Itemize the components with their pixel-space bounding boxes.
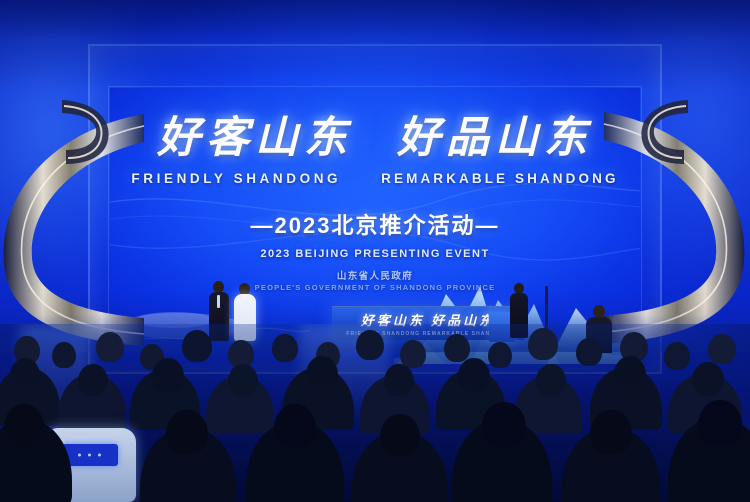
audience-head-front bbox=[482, 402, 526, 448]
audience-head bbox=[384, 364, 414, 396]
audience-head bbox=[488, 342, 512, 368]
audience-head bbox=[52, 342, 76, 368]
slogan-en-right: REMARKABLE SHANDONG bbox=[381, 171, 618, 186]
slogan-cn-left: 好客山东 bbox=[157, 116, 353, 161]
audience-head-front bbox=[698, 400, 742, 446]
audience-head bbox=[10, 358, 40, 390]
audience-head bbox=[528, 328, 558, 360]
slogan-chinese-row: 好客山东 好品山东 bbox=[0, 116, 750, 161]
audience-head bbox=[444, 334, 470, 362]
audience-head bbox=[356, 330, 384, 360]
audience-head bbox=[576, 338, 602, 366]
audience-head bbox=[664, 342, 690, 370]
slogan-english-row: FRIENDLY SHANDONG REMARKABLE SHANDONG bbox=[0, 171, 750, 186]
slogan-en-left: FRIENDLY SHANDONG bbox=[131, 171, 341, 186]
audience-head bbox=[182, 330, 212, 362]
audience-head bbox=[692, 362, 724, 396]
audience-head bbox=[536, 364, 566, 396]
audience-head bbox=[228, 364, 258, 396]
audience-head-front bbox=[380, 414, 420, 456]
event-stage-photo: 好客山东 好品山东 FRIENDLY SHANDONG REMARKABLE S… bbox=[0, 0, 750, 502]
audience-head bbox=[152, 358, 184, 392]
slogan-cn-right: 好品山东 bbox=[397, 116, 593, 161]
shirt-front bbox=[217, 295, 220, 308]
organizer-chinese: 山东省人民政府 bbox=[0, 268, 750, 282]
audience-head bbox=[400, 340, 426, 368]
audience-head bbox=[614, 356, 646, 390]
audience-head-front bbox=[166, 410, 208, 454]
event-title-chinese: —2023北京推介活动— bbox=[0, 208, 750, 240]
audience-head bbox=[78, 364, 108, 396]
audience-head bbox=[272, 334, 298, 362]
audience-head bbox=[306, 356, 338, 390]
chair-label bbox=[62, 444, 118, 466]
audience-crowd bbox=[0, 324, 750, 502]
audience-head-front bbox=[590, 410, 632, 454]
event-title-english: 2023 BEIJING PRESENTING EVENT bbox=[0, 248, 750, 260]
audience-head bbox=[96, 332, 124, 362]
organizer-english: PEOPLE'S GOVERNMENT OF SHANDONG PROVINCE bbox=[0, 283, 750, 292]
audience-head-front bbox=[274, 404, 316, 448]
event-title-block: 好客山东 好品山东 FRIENDLY SHANDONG REMARKABLE S… bbox=[0, 116, 750, 260]
audience-head-front bbox=[4, 404, 44, 446]
audience-head bbox=[708, 334, 736, 364]
audience-head bbox=[458, 358, 490, 392]
